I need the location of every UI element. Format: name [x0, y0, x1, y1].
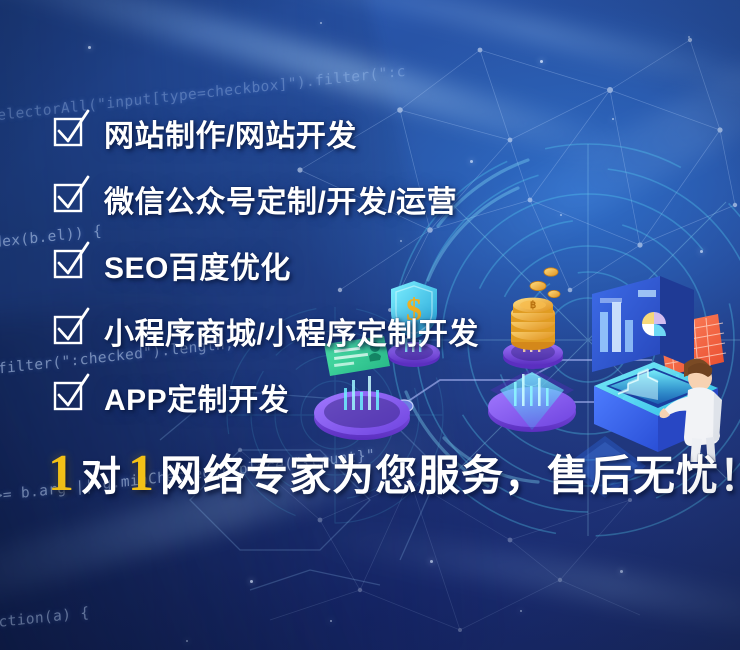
tagline-number-first: 1	[48, 448, 74, 500]
checked-checkbox-icon	[52, 182, 88, 216]
checked-checkbox-icon	[52, 248, 88, 282]
tagline-middle-word: 对	[74, 457, 128, 497]
feature-row: APP定制开发	[52, 364, 692, 430]
feature-row: 微信公众号定制/开发/运营	[52, 166, 692, 232]
feature-label: 微信公众号定制/开发/运营	[104, 177, 457, 221]
feature-row: SEO百度优化	[52, 232, 692, 298]
tagline-number-second: 1	[128, 448, 154, 500]
feature-list: 网站制作/网站开发 微信公众号定制/开发/运营	[52, 100, 692, 430]
checked-checkbox-icon	[52, 314, 88, 348]
promotional-banner: .querySelectorAll("input[type=checkbox]"…	[0, 0, 740, 650]
feature-row: 网站制作/网站开发	[52, 100, 692, 166]
feature-label: SEO百度优化	[104, 243, 291, 287]
feature-row: 小程序商城/小程序定制开发	[52, 298, 692, 364]
tagline: 1 对 1 网络专家为您服务，售后无忧！	[48, 448, 740, 500]
checked-checkbox-icon	[52, 380, 88, 414]
checked-checkbox-icon	[52, 116, 88, 150]
banner-content: 网站制作/网站开发 微信公众号定制/开发/运营	[0, 0, 740, 650]
feature-label: APP定制开发	[104, 375, 289, 419]
feature-label: 小程序商城/小程序定制开发	[104, 309, 479, 353]
tagline-main-text: 网络专家为您服务，售后无忧！	[154, 455, 740, 497]
feature-label: 网站制作/网站开发	[104, 111, 357, 155]
